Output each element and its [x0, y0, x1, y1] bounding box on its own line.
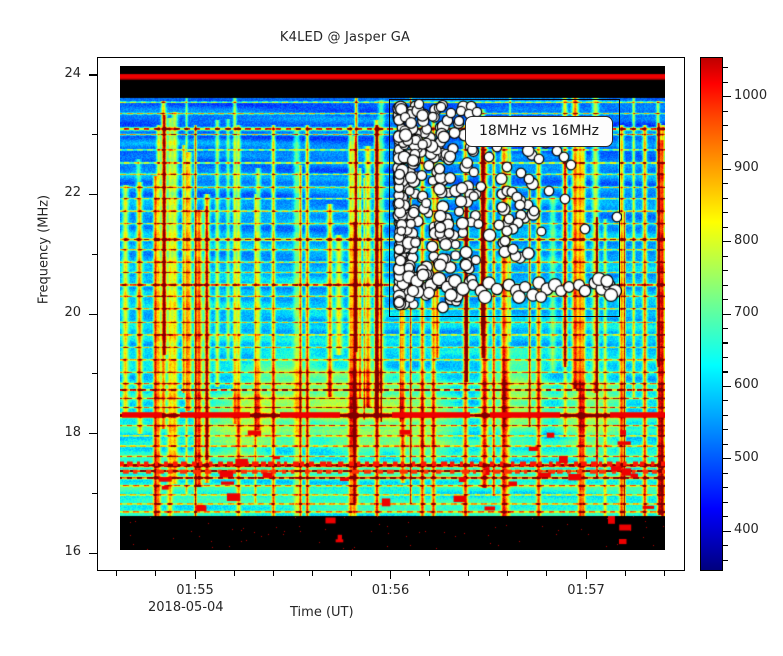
y-tick-mark — [92, 134, 97, 135]
y-tick-label: 24 — [21, 66, 81, 81]
colorbar-tick-mark — [723, 227, 728, 228]
colorbar-tick-mark — [723, 125, 728, 126]
x-tick-label: 01:56 — [372, 583, 409, 598]
colorbar-tick-mark — [723, 429, 728, 430]
x-tick-mark — [546, 571, 547, 576]
y-tick-mark — [89, 314, 97, 315]
colorbar-tick-mark — [723, 299, 728, 300]
colorbar-tick-label: 600 — [734, 377, 759, 392]
colorbar-tick-label: 400 — [734, 522, 759, 537]
x-tick-mark — [351, 571, 352, 576]
colorbar-tick-mark — [723, 473, 728, 474]
colorbar-tick-mark — [723, 96, 731, 97]
x-axis-date-label: 2018-05-04 — [148, 600, 224, 615]
figure-canvas: K4LED @ Jasper GA 18MHz vs 16MHz Frequen… — [0, 0, 783, 656]
y-tick-label: 20 — [21, 305, 81, 320]
y-tick-mark — [92, 493, 97, 494]
colorbar — [700, 57, 723, 571]
colorbar-tick-mark — [723, 516, 728, 517]
colorbar-tick-mark — [723, 256, 728, 257]
x-tick-label: 01:55 — [176, 583, 213, 598]
colorbar-tick-mark — [723, 270, 728, 271]
colorbar-tick-mark — [723, 111, 728, 112]
x-tick-mark — [625, 571, 626, 576]
colorbar-tick-mark — [723, 82, 728, 83]
y-tick-mark — [92, 254, 97, 255]
x-tick-mark — [195, 571, 196, 579]
colorbar-tick-mark — [723, 169, 731, 170]
colorbar-tick-mark — [723, 444, 728, 445]
colorbar-tick-mark — [723, 458, 731, 459]
colorbar-tick-mark — [723, 140, 728, 141]
colorbar-tick-label: 800 — [734, 233, 759, 248]
colorbar-tick-mark — [723, 400, 728, 401]
colorbar-tick-mark — [723, 154, 728, 155]
x-tick-mark — [468, 571, 469, 576]
colorbar-tick-mark — [723, 502, 728, 503]
x-tick-mark — [429, 571, 430, 576]
colorbar-tick-mark — [723, 531, 731, 532]
colorbar-tick-mark — [723, 241, 731, 242]
colorbar-tick-label: 500 — [734, 450, 759, 465]
colorbar-tick-mark — [723, 183, 728, 184]
colorbar-tick-label: 700 — [734, 305, 759, 320]
x-tick-mark — [234, 571, 235, 576]
x-tick-mark — [507, 571, 508, 576]
x-tick-mark — [312, 571, 313, 576]
colorbar-tick-label: 900 — [734, 160, 759, 175]
annotation-label: 18MHz vs 16MHz — [465, 116, 613, 147]
colorbar-tick-mark — [723, 386, 731, 387]
y-tick-mark — [89, 553, 97, 554]
colorbar-tick-label: 1000 — [734, 88, 767, 103]
colorbar-tick-mark — [723, 198, 728, 199]
y-tick-label: 18 — [21, 425, 81, 440]
colorbar-tick-mark — [723, 342, 728, 343]
y-tick-mark — [92, 373, 97, 374]
colorbar-tick-mark — [723, 285, 728, 286]
colorbar-tick-mark — [723, 67, 728, 68]
x-tick-mark — [273, 571, 274, 576]
y-tick-label: 22 — [21, 185, 81, 200]
y-tick-mark — [89, 433, 97, 434]
colorbar-gradient — [700, 57, 723, 571]
x-tick-mark — [155, 571, 156, 576]
y-tick-label: 16 — [21, 544, 81, 559]
colorbar-tick-mark — [723, 314, 731, 315]
y-tick-mark — [89, 74, 97, 75]
x-tick-mark — [664, 571, 665, 576]
colorbar-tick-mark — [723, 560, 728, 561]
x-tick-mark — [116, 571, 117, 576]
colorbar-tick-mark — [723, 212, 728, 213]
colorbar-tick-mark — [723, 328, 728, 329]
x-axis-label: Time (UT) — [290, 605, 354, 620]
colorbar-tick-mark — [723, 487, 728, 488]
colorbar-tick-mark — [723, 545, 728, 546]
colorbar-tick-mark — [723, 371, 728, 372]
y-tick-mark — [89, 194, 97, 195]
colorbar-tick-mark — [723, 415, 728, 416]
x-tick-mark — [586, 571, 587, 579]
page-title: K4LED @ Jasper GA — [0, 30, 690, 45]
x-tick-label: 01:57 — [567, 583, 604, 598]
x-tick-mark — [390, 571, 391, 579]
colorbar-tick-mark — [723, 357, 728, 358]
